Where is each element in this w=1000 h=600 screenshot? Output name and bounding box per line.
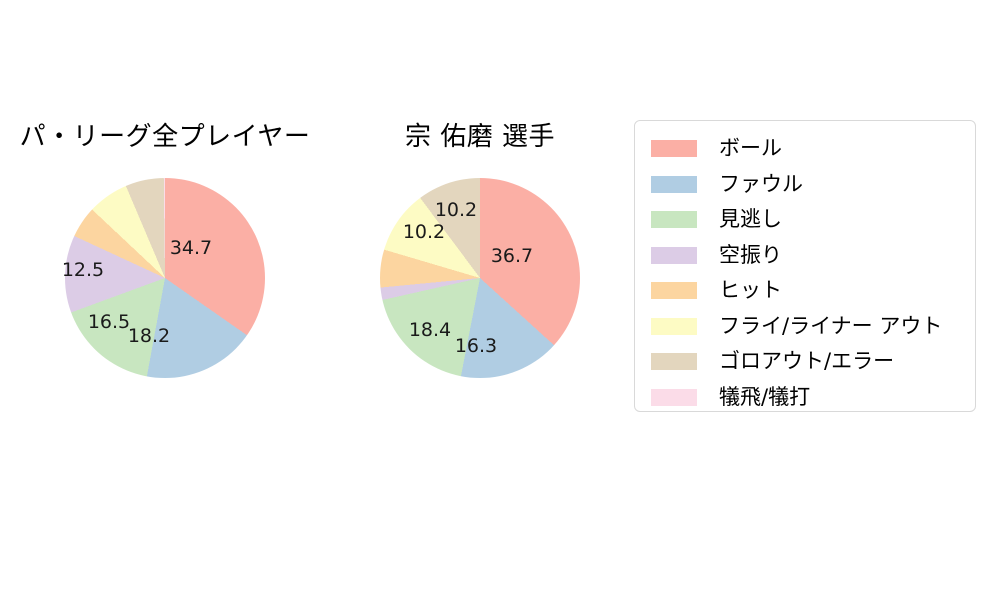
pie-league: [65, 178, 265, 378]
panel-league: パ・リーグ全プレイヤー 34.718.216.512.5: [0, 100, 330, 420]
legend-item-1[interactable]: ファウル: [651, 167, 961, 203]
pie-player: [380, 178, 580, 378]
legend: ボールファウル見逃し空振りヒットフライ/ライナー アウトゴロアウト/エラー犠飛/…: [634, 120, 976, 412]
panel-player-title: 宗 佑磨 選手: [330, 116, 630, 153]
legend-swatch-4: [651, 282, 697, 299]
legend-swatch-0: [651, 140, 697, 157]
pie-player-wrap: 36.716.318.410.210.2: [380, 178, 580, 378]
legend-item-0[interactable]: ボール: [651, 131, 961, 167]
legend-item-7[interactable]: 犠飛/犠打: [651, 380, 961, 416]
legend-item-3[interactable]: 空振り: [651, 238, 961, 274]
pie-chart-figure: パ・リーグ全プレイヤー 34.718.216.512.5 宗 佑磨 選手 36.…: [0, 0, 1000, 600]
panel-player: 宗 佑磨 選手 36.716.318.410.210.2: [330, 100, 630, 420]
legend-label-5: フライ/ライナー アウト: [719, 316, 942, 337]
legend-swatch-1: [651, 176, 697, 193]
legend-label-3: 空振り: [719, 245, 782, 266]
legend-item-2[interactable]: 見逃し: [651, 202, 961, 238]
legend-label-6: ゴロアウト/エラー: [719, 351, 894, 372]
pie-league-wrap: 34.718.216.512.5: [65, 178, 265, 378]
legend-label-0: ボール: [719, 138, 782, 159]
panel-league-title: パ・リーグ全プレイヤー: [0, 116, 330, 153]
legend-swatch-2: [651, 211, 697, 228]
legend-item-5[interactable]: フライ/ライナー アウト: [651, 309, 961, 345]
legend-item-6[interactable]: ゴロアウト/エラー: [651, 344, 961, 380]
legend-label-7: 犠飛/犠打: [719, 387, 810, 408]
legend-item-4[interactable]: ヒット: [651, 273, 961, 309]
legend-label-1: ファウル: [719, 174, 803, 195]
legend-swatch-5: [651, 318, 697, 335]
legend-label-2: 見逃し: [719, 209, 782, 230]
legend-swatch-7: [651, 389, 697, 406]
legend-swatch-6: [651, 353, 697, 370]
legend-swatch-3: [651, 247, 697, 264]
legend-label-4: ヒット: [719, 280, 782, 301]
